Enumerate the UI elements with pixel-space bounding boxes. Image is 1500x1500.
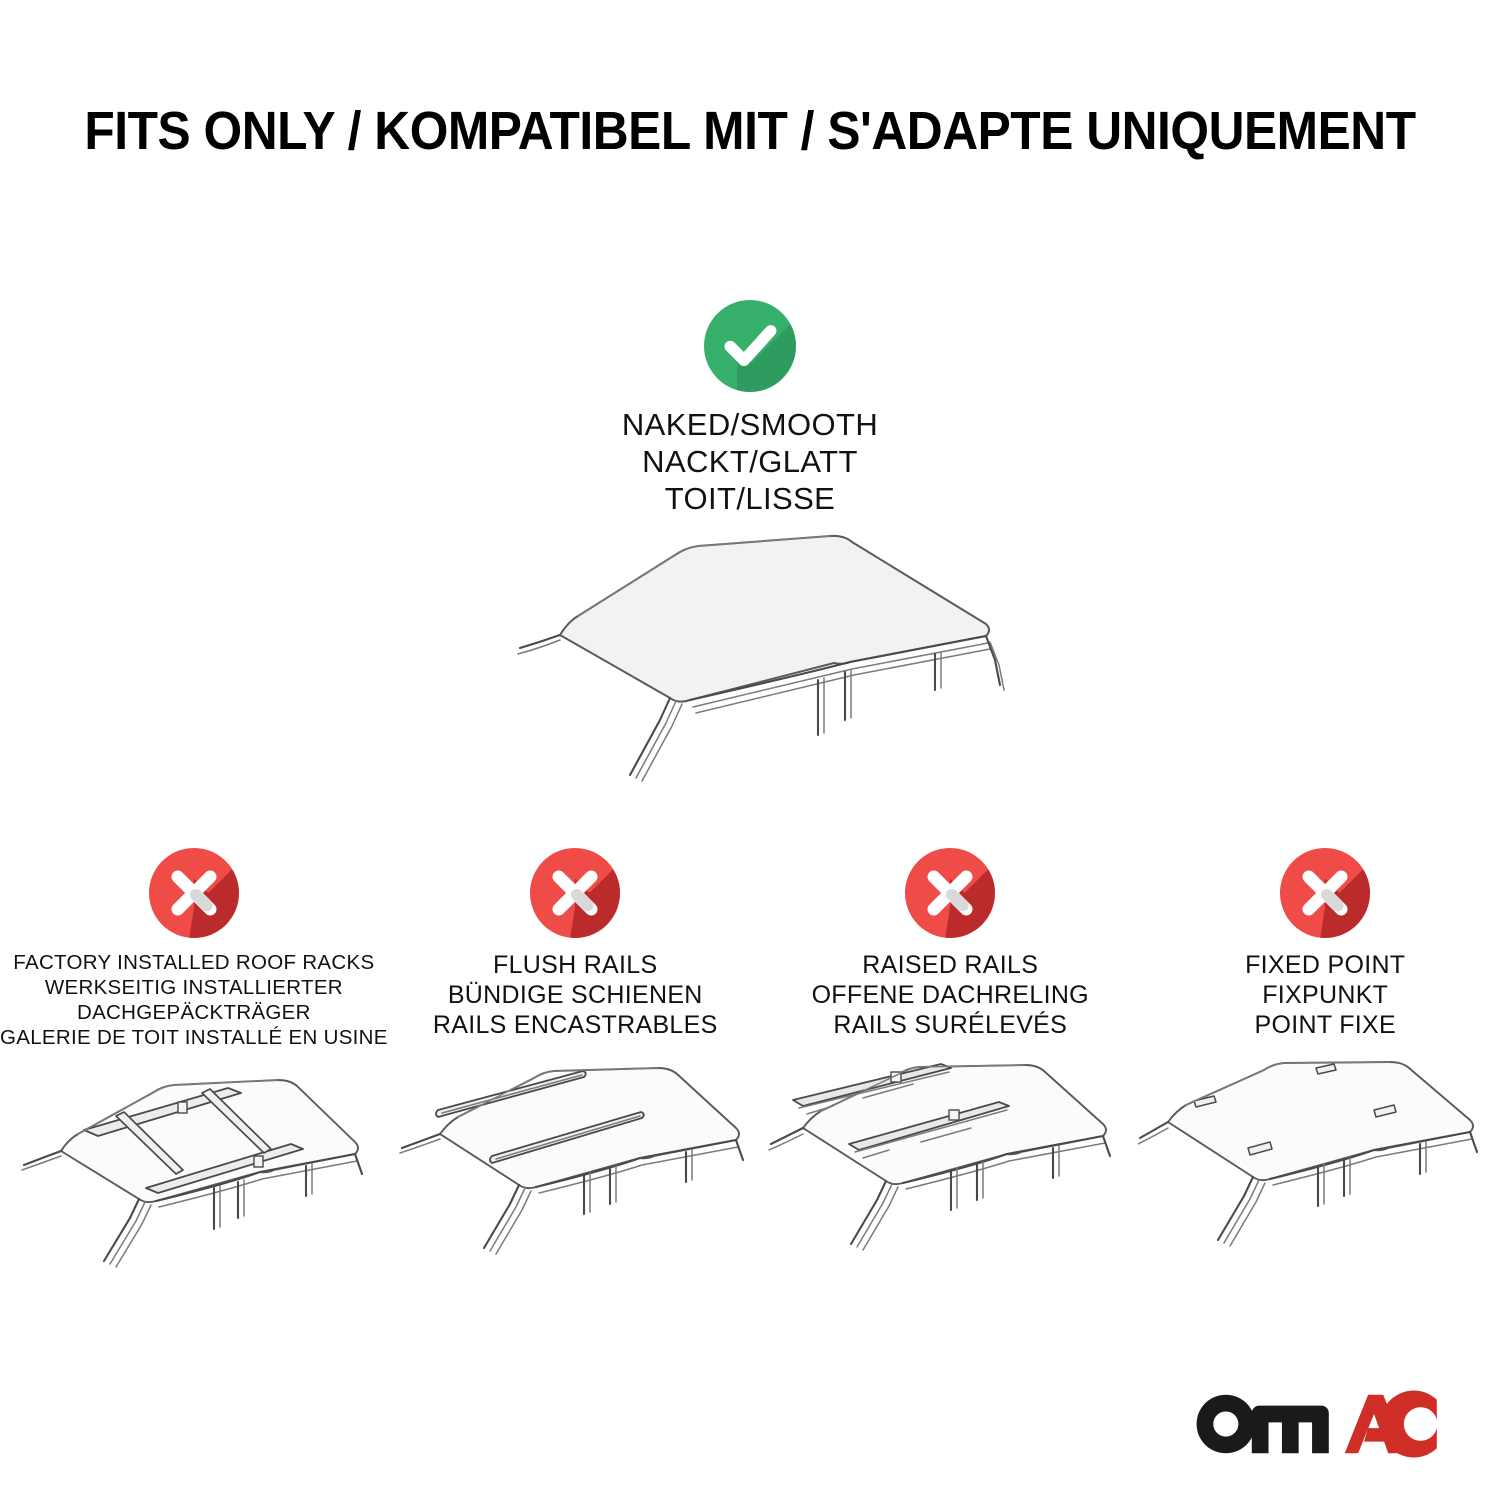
incompatible-item-fixed-point: FIXED POINT FIXPUNKT POINT FIXE <box>1138 848 1500 1281</box>
caption-line-3: RAILS ENCASTRABLES <box>433 1010 718 1040</box>
omac-logo <box>1189 1388 1440 1460</box>
caption-line-1: FACTORY INSTALLED ROOF RACKS <box>0 950 388 975</box>
fixed-point-roof-illustration <box>1138 1056 1500 1271</box>
caption-line-2: WERKSEITIG INSTALLIERTER <box>0 975 388 1000</box>
caption-line-3: RAILS SURÉLEVÉS <box>812 1010 1089 1040</box>
raised-rails-roof-illustration <box>763 1056 1138 1271</box>
compatible-section: NAKED/SMOOTH NACKT/GLATT TOIT/LISSE <box>0 300 1500 517</box>
caption-line-4: GALERIE DE TOIT INSTALLÉ EN USINE <box>0 1025 388 1050</box>
incompatible-caption: FACTORY INSTALLED ROOF RACKS WERKSEITIG … <box>0 950 388 1050</box>
naked-smooth-roof-illustration <box>500 520 1020 820</box>
caption-line-2: BÜNDIGE SCHIENEN <box>433 980 718 1010</box>
cross-circle-icon <box>905 848 995 938</box>
incompatible-item-flush-rails: FLUSH RAILS BÜNDIGE SCHIENEN RAILS ENCAS… <box>388 848 763 1281</box>
caption-line-3: POINT FIXE <box>1245 1010 1405 1040</box>
compatible-line-2: NACKT/GLATT <box>0 443 1500 480</box>
cross-circle-icon <box>1280 848 1370 938</box>
cross-circle-icon <box>530 848 620 938</box>
caption-line-1: RAISED RAILS <box>812 950 1089 980</box>
caption-line-3: DACHGEPÄCKTRÄGER <box>0 1000 388 1025</box>
incompatible-item-factory-installed-roof-racks: FACTORY INSTALLED ROOF RACKS WERKSEITIG … <box>0 848 388 1281</box>
caption-line-2: OFFENE DACHRELING <box>812 980 1089 1010</box>
incompatible-caption: RAISED RAILS OFFENE DACHRELING RAILS SUR… <box>812 950 1089 1040</box>
incompatible-caption: FIXED POINT FIXPUNKT POINT FIXE <box>1245 950 1405 1040</box>
caption-line-1: FIXED POINT <box>1245 950 1405 980</box>
compatible-line-3: TOIT/LISSE <box>0 480 1500 517</box>
caption-line-1: FLUSH RAILS <box>433 950 718 980</box>
page-title: FITS ONLY / KOMPATIBEL MIT / S'ADAPTE UN… <box>60 100 1440 162</box>
incompatible-section: FACTORY INSTALLED ROOF RACKS WERKSEITIG … <box>0 848 1500 1281</box>
flush-rails-roof-illustration <box>388 1056 763 1271</box>
cross-circle-icon <box>149 848 239 938</box>
compatible-caption: NAKED/SMOOTH NACKT/GLATT TOIT/LISSE <box>0 406 1500 517</box>
compatible-line-1: NAKED/SMOOTH <box>0 406 1500 443</box>
caption-line-2: FIXPUNKT <box>1245 980 1405 1010</box>
incompatible-item-raised-rails: RAISED RAILS OFFENE DACHRELING RAILS SUR… <box>763 848 1138 1281</box>
factory-roof-rack-illustration <box>6 1066 381 1281</box>
check-circle-icon <box>704 300 796 392</box>
incompatible-caption: FLUSH RAILS BÜNDIGE SCHIENEN RAILS ENCAS… <box>433 950 718 1040</box>
